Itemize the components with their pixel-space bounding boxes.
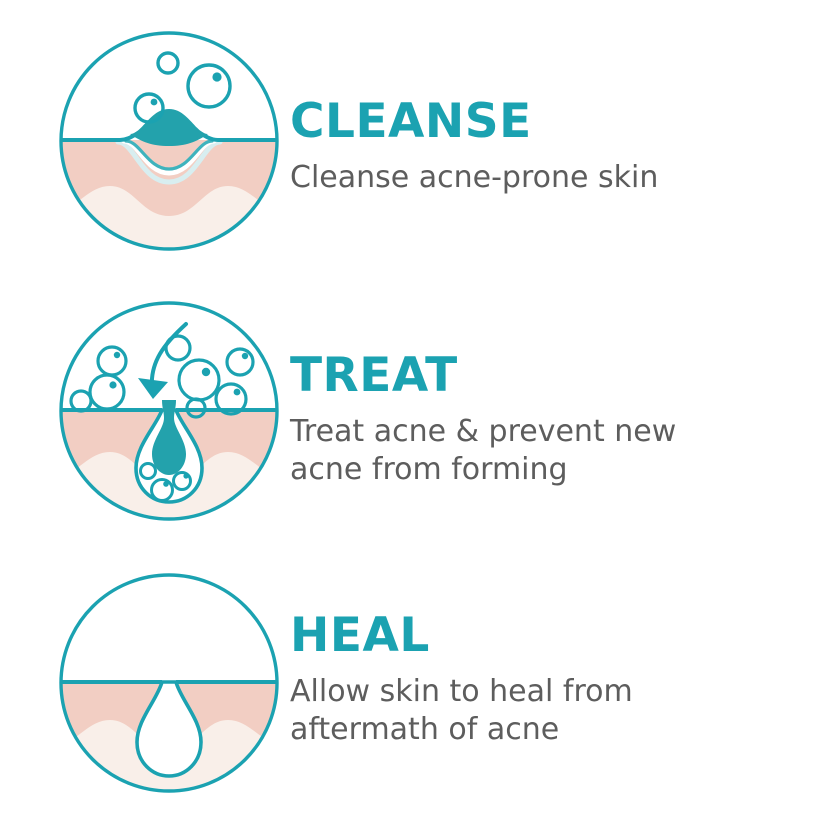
icon-container-heal [0,572,290,794]
description-line: aftermath of acne [290,711,760,749]
step-description-heal: Allow skin to heal from aftermath of acn… [290,673,760,749]
cleanse-skin-bubbles-icon [58,30,280,252]
step-description-cleanse: Cleanse acne-prone skin [290,159,760,197]
icon-container-cleanse [0,30,290,252]
text-container-heal: HEAL Allow skin to heal from aftermath o… [290,572,828,749]
description-line: Treat acne & prevent new [290,413,760,451]
heal-clear-pore-icon [58,572,280,794]
description-line: Cleanse acne-prone skin [290,159,760,197]
step-title-treat: TREAT [290,352,828,399]
treat-pore-arrow-icon [58,300,280,522]
step-title-heal: HEAL [290,612,828,659]
text-container-treat: TREAT Treat acne & prevent new acne from… [290,300,828,489]
icon-container-treat [0,300,290,522]
description-line: Allow skin to heal from [290,673,760,711]
step-title-cleanse: CLEANSE [290,98,828,145]
step-row-cleanse: CLEANSE Cleanse acne-prone skin [0,30,828,280]
text-container-cleanse: CLEANSE Cleanse acne-prone skin [290,30,828,197]
acne-routine-infographic: CLEANSE Cleanse acne-prone skin [0,0,828,828]
step-description-treat: Treat acne & prevent new acne from formi… [290,413,760,489]
step-row-heal: HEAL Allow skin to heal from aftermath o… [0,572,828,822]
description-line: acne from forming [290,451,760,489]
step-row-treat: TREAT Treat acne & prevent new acne from… [0,300,828,555]
